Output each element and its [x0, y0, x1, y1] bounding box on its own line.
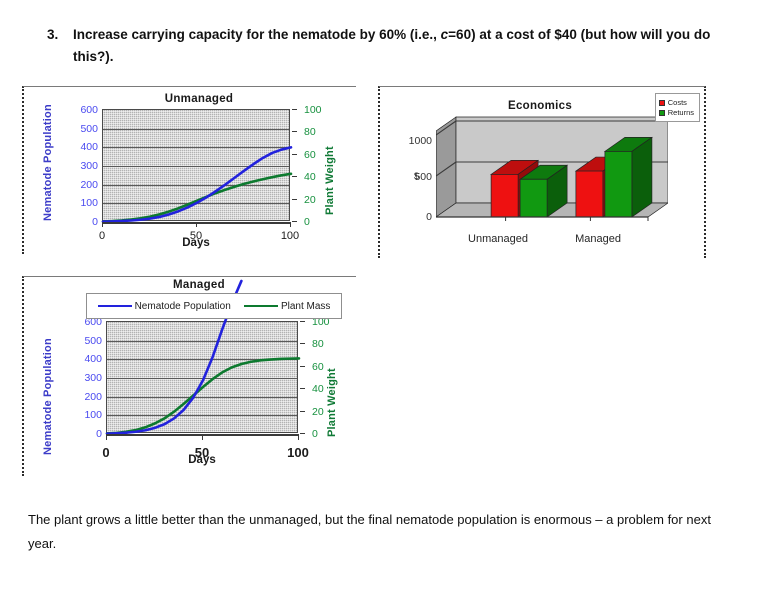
category-label-unmanaged: Unmanaged: [452, 233, 544, 245]
xtick: 100: [282, 446, 314, 459]
chart-economics-legend[interactable]: Costs Returns: [655, 93, 700, 122]
ytick: 500: [60, 124, 98, 135]
tickmark: [300, 366, 305, 367]
legend-swatch-icon-red: [659, 100, 665, 106]
xtick: 0: [90, 446, 122, 459]
ytick: 200: [60, 180, 98, 191]
tickmark: [196, 222, 197, 227]
chart-managed-title: Managed: [84, 279, 314, 291]
question-block: 3. Increase carrying capacity for the ne…: [47, 24, 747, 68]
tickmark: [292, 199, 297, 200]
tickmark: [102, 222, 103, 227]
tickmark: [292, 176, 297, 177]
question-row: 3. Increase carrying capacity for the ne…: [47, 24, 747, 68]
legend-label: Costs: [668, 98, 687, 107]
legend-entry-returns[interactable]: Returns: [659, 108, 694, 117]
y2tick: 20: [304, 195, 316, 206]
tickmark: [106, 434, 107, 440]
legend-entry-plant-mass[interactable]: Plant Mass: [244, 301, 330, 312]
ytick: 600: [60, 105, 98, 116]
chart-managed-y2label: Plant Weight: [326, 333, 338, 437]
tickmark: [300, 411, 305, 412]
legend-line-icon-blue: [98, 305, 132, 307]
ytick: 0: [64, 429, 102, 440]
question-number: 3.: [47, 24, 73, 46]
ytick: 400: [64, 354, 102, 365]
ytick: 400: [60, 142, 98, 153]
y2tick: 80: [312, 339, 324, 350]
chart-managed: Managed Nematode Population Plant Mass N…: [22, 276, 356, 476]
chart-managed-legend[interactable]: Nematode Population Plant Mass: [86, 293, 342, 319]
ytick: 500: [386, 171, 432, 183]
chart-economics-plot: [436, 113, 668, 221]
ytick: 300: [64, 373, 102, 384]
tickmark: [292, 221, 297, 222]
y2tick: 60: [304, 150, 316, 161]
tickmark: [202, 434, 203, 440]
tickmark: [292, 154, 297, 155]
chart-managed-ylabel: Nematode Population: [42, 339, 54, 455]
chart-unmanaged: Unmanaged Nematode Population Plant Weig…: [22, 86, 356, 254]
legend-entry-nematode-population[interactable]: Nematode Population: [98, 301, 231, 312]
chart-unmanaged-plot: [102, 109, 290, 221]
tickmark: [300, 343, 305, 344]
y2tick: 60: [312, 362, 324, 373]
y2tick: 20: [312, 407, 324, 418]
chart-unmanaged-ylabel: Nematode Population: [42, 109, 54, 221]
chart-unmanaged-y2label: Plant Weight: [324, 115, 336, 215]
ytick: 200: [64, 392, 102, 403]
ytick: 100: [64, 410, 102, 421]
chart-unmanaged-series: [103, 110, 291, 222]
chart-managed-plot: [106, 321, 298, 433]
ytick: 100: [60, 198, 98, 209]
legend-line-icon-green: [244, 305, 278, 307]
question-text-part1: Increase carrying capacity for the nemat…: [73, 27, 441, 42]
legend-label: Returns: [668, 108, 694, 117]
legend-label: Plant Mass: [281, 301, 330, 312]
ytick: 1000: [386, 135, 432, 147]
tickmark: [300, 321, 305, 322]
tickmark: [292, 131, 297, 132]
y2tick: 0: [304, 217, 310, 228]
chart-economics-bars: [436, 113, 668, 221]
tickmark: [300, 388, 305, 389]
ytick: 500: [64, 336, 102, 347]
category-label-managed: Managed: [556, 233, 640, 245]
ytick: 0: [60, 217, 98, 228]
closing-paragraph: The plant grows a little better than the…: [28, 508, 718, 556]
chart-economics-title: Economics: [440, 100, 640, 112]
ytick: 300: [60, 161, 98, 172]
tickmark: [300, 433, 305, 434]
legend-entry-costs[interactable]: Costs: [659, 98, 694, 107]
y2tick: 40: [304, 172, 316, 183]
charts-region: Unmanaged Nematode Population Plant Weig…: [0, 86, 780, 486]
xtick: 0: [86, 231, 118, 242]
legend-swatch-icon-green: [659, 110, 665, 116]
chart-unmanaged-xlabel: Days: [164, 237, 228, 249]
chart-managed-xlabel: Days: [170, 454, 234, 466]
chart-managed-series: [107, 322, 299, 434]
xtick: 100: [274, 231, 306, 242]
y2tick: 0: [312, 429, 318, 440]
tickmark: [290, 222, 291, 227]
tickmark: [298, 434, 299, 440]
question-text: Increase carrying capacity for the nemat…: [73, 24, 747, 68]
y2tick: 40: [312, 384, 324, 395]
ytick: 0: [386, 211, 432, 223]
tickmark: [292, 109, 297, 110]
chart-unmanaged-title: Unmanaged: [84, 93, 314, 105]
y2tick: 100: [304, 105, 322, 116]
y2tick: 80: [304, 127, 316, 138]
chart-economics: Economics Costs Returns $ 1000 500 0 Unm…: [378, 86, 706, 258]
legend-label: Nematode Population: [135, 301, 231, 312]
